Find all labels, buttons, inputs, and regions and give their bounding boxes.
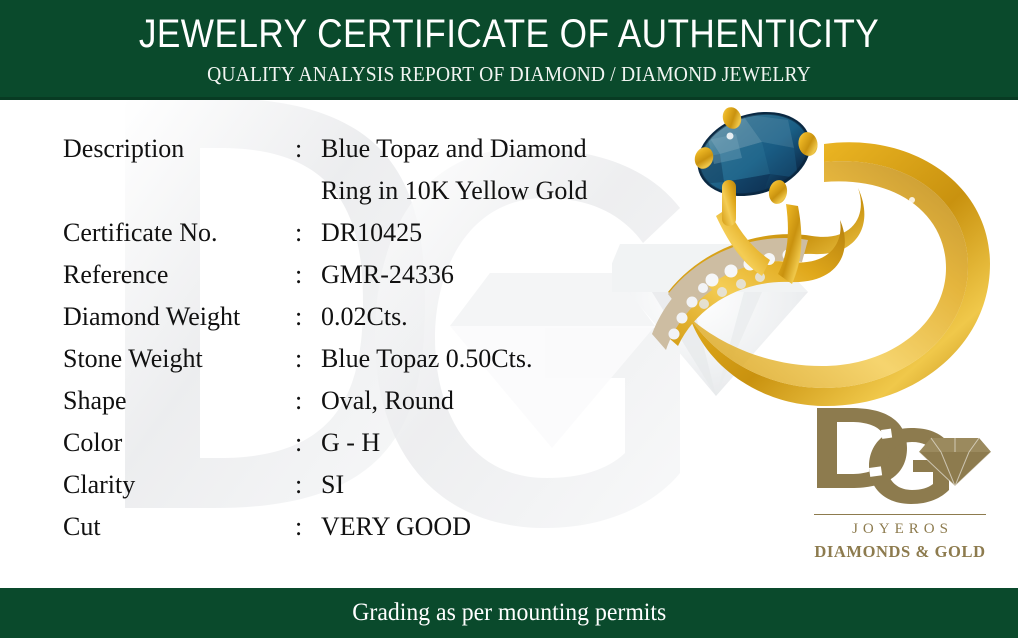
detail-row-description: Description : Blue Topaz and Diamond	[63, 128, 683, 170]
detail-separator: :	[295, 464, 321, 506]
detail-row-cut: Cut : VERY GOOD	[63, 506, 683, 548]
detail-label: Shape	[63, 380, 295, 422]
detail-separator: :	[295, 128, 321, 170]
detail-label: Diamond Weight	[63, 296, 295, 338]
detail-separator: :	[295, 422, 321, 464]
logo-divider	[814, 514, 986, 515]
brand-logo: JOYEROS DIAMONDS & GOLD	[800, 402, 1000, 582]
footer-note: Grading as per mounting permits	[352, 588, 666, 638]
detail-value: Blue Topaz and Diamond	[321, 128, 587, 170]
detail-value: VERY GOOD	[321, 506, 471, 548]
detail-value: Oval, Round	[321, 380, 454, 422]
detail-separator: :	[295, 506, 321, 548]
detail-row-clarity: Clarity : SI	[63, 464, 683, 506]
detail-value: 0.02Cts.	[321, 296, 408, 338]
page-subtitle: QUALITY ANALYSIS REPORT OF DIAMOND / DIA…	[36, 54, 983, 85]
detail-value: DR10425	[321, 212, 422, 254]
detail-label: Reference	[63, 254, 295, 296]
dg-monogram-icon	[807, 402, 993, 510]
detail-value: GMR-24336	[321, 254, 454, 296]
detail-separator: :	[295, 380, 321, 422]
detail-label: Color	[63, 422, 295, 464]
detail-row-description-line2: Ring in 10K Yellow Gold	[63, 170, 683, 212]
certificate-header: JEWELRY CERTIFICATE OF AUTHENTICITY QUAL…	[0, 0, 1018, 100]
certificate-footer: Grading as per mounting permits	[0, 588, 1018, 638]
detail-value: G - H	[321, 422, 380, 464]
detail-separator: :	[295, 254, 321, 296]
detail-row-reference: Reference : GMR-24336	[63, 254, 683, 296]
detail-row-shape: Shape : Oval, Round	[63, 380, 683, 422]
detail-value-continued: Ring in 10K Yellow Gold	[321, 170, 588, 212]
detail-label: Stone Weight	[63, 338, 295, 380]
detail-row-stone-weight: Stone Weight : Blue Topaz 0.50Cts.	[63, 338, 683, 380]
detail-label: Clarity	[63, 464, 295, 506]
certificate-details: Description : Blue Topaz and Diamond Rin…	[63, 128, 683, 548]
detail-row-certificate-no: Certificate No. : DR10425	[63, 212, 683, 254]
detail-label: Cut	[63, 506, 295, 548]
logo-tagline: DIAMONDS & GOLD	[800, 544, 1000, 561]
detail-row-diamond-weight: Diamond Weight : 0.02Cts.	[63, 296, 683, 338]
page-title: JEWELRY CERTIFICATE OF AUTHENTICITY	[61, 0, 957, 54]
detail-row-color: Color : G - H	[63, 422, 683, 464]
detail-separator: :	[295, 296, 321, 338]
detail-value: Blue Topaz 0.50Cts.	[321, 338, 532, 380]
jewelry-certificate: JEWELRY CERTIFICATE OF AUTHENTICITY QUAL…	[0, 0, 1018, 638]
logo-brand-name: JOYEROS	[800, 522, 1000, 537]
detail-label: Description	[63, 128, 295, 170]
detail-separator: :	[295, 338, 321, 380]
detail-value: SI	[321, 464, 344, 506]
detail-separator: :	[295, 212, 321, 254]
detail-label: Certificate No.	[63, 212, 295, 254]
